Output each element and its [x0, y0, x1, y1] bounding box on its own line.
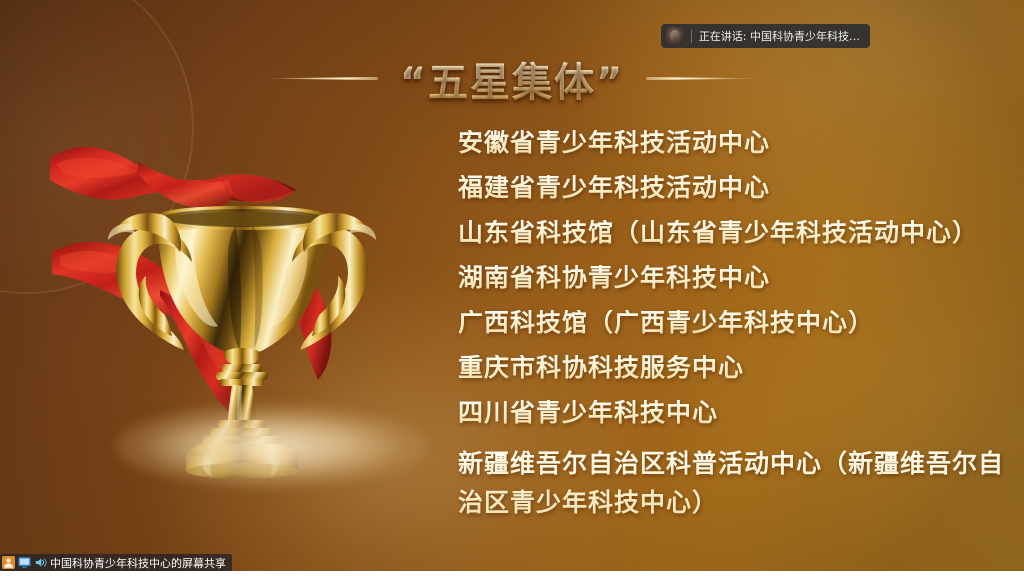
- screen-share-slide: “五星集体”: [0, 0, 1024, 576]
- list-item: 广西科技馆（广西青少年科技中心）: [458, 310, 1006, 335]
- bottom-white-strip: [0, 571, 1024, 576]
- speaker-video-thumbnail-icon: [666, 27, 684, 45]
- list-item: 安徽省青少年科技活动中心: [458, 130, 1006, 155]
- active-speaker-label: 正在讲话: 中国科协青少年科技…: [699, 28, 860, 44]
- badge-divider: [691, 30, 692, 43]
- participant-icon: [2, 556, 15, 569]
- screen-share-icon: [18, 556, 31, 569]
- honor-list: 安徽省青少年科技活动中心 福建省青少年科技活动中心 山东省科技馆（山东省青少年科…: [458, 130, 1006, 543]
- screen-share-status-bar[interactable]: 中国科协青少年科技中心的屏幕共享: [0, 554, 232, 571]
- list-item: 山东省科技馆（山东省青少年科技活动中心）: [458, 220, 1006, 245]
- active-speaker-badge[interactable]: 正在讲话: 中国科协青少年科技…: [661, 24, 870, 48]
- list-item: 新疆维吾尔自治区科普活动中心（新疆维吾尔自治区青少年科技中心）: [458, 445, 1006, 523]
- list-item: 湖南省科协青少年科技中心: [458, 265, 1006, 290]
- list-item: 重庆市科协科技服务中心: [458, 355, 1006, 380]
- trophy-artwork: [42, 118, 442, 478]
- audio-share-icon: [34, 556, 47, 569]
- screen-share-label: 中国科协青少年科技中心的屏幕共享: [50, 555, 226, 571]
- list-item: 四川省青少年科技中心: [458, 400, 1006, 425]
- trophy-surface-glow: [116, 404, 428, 488]
- list-item: 福建省青少年科技活动中心: [458, 175, 1006, 200]
